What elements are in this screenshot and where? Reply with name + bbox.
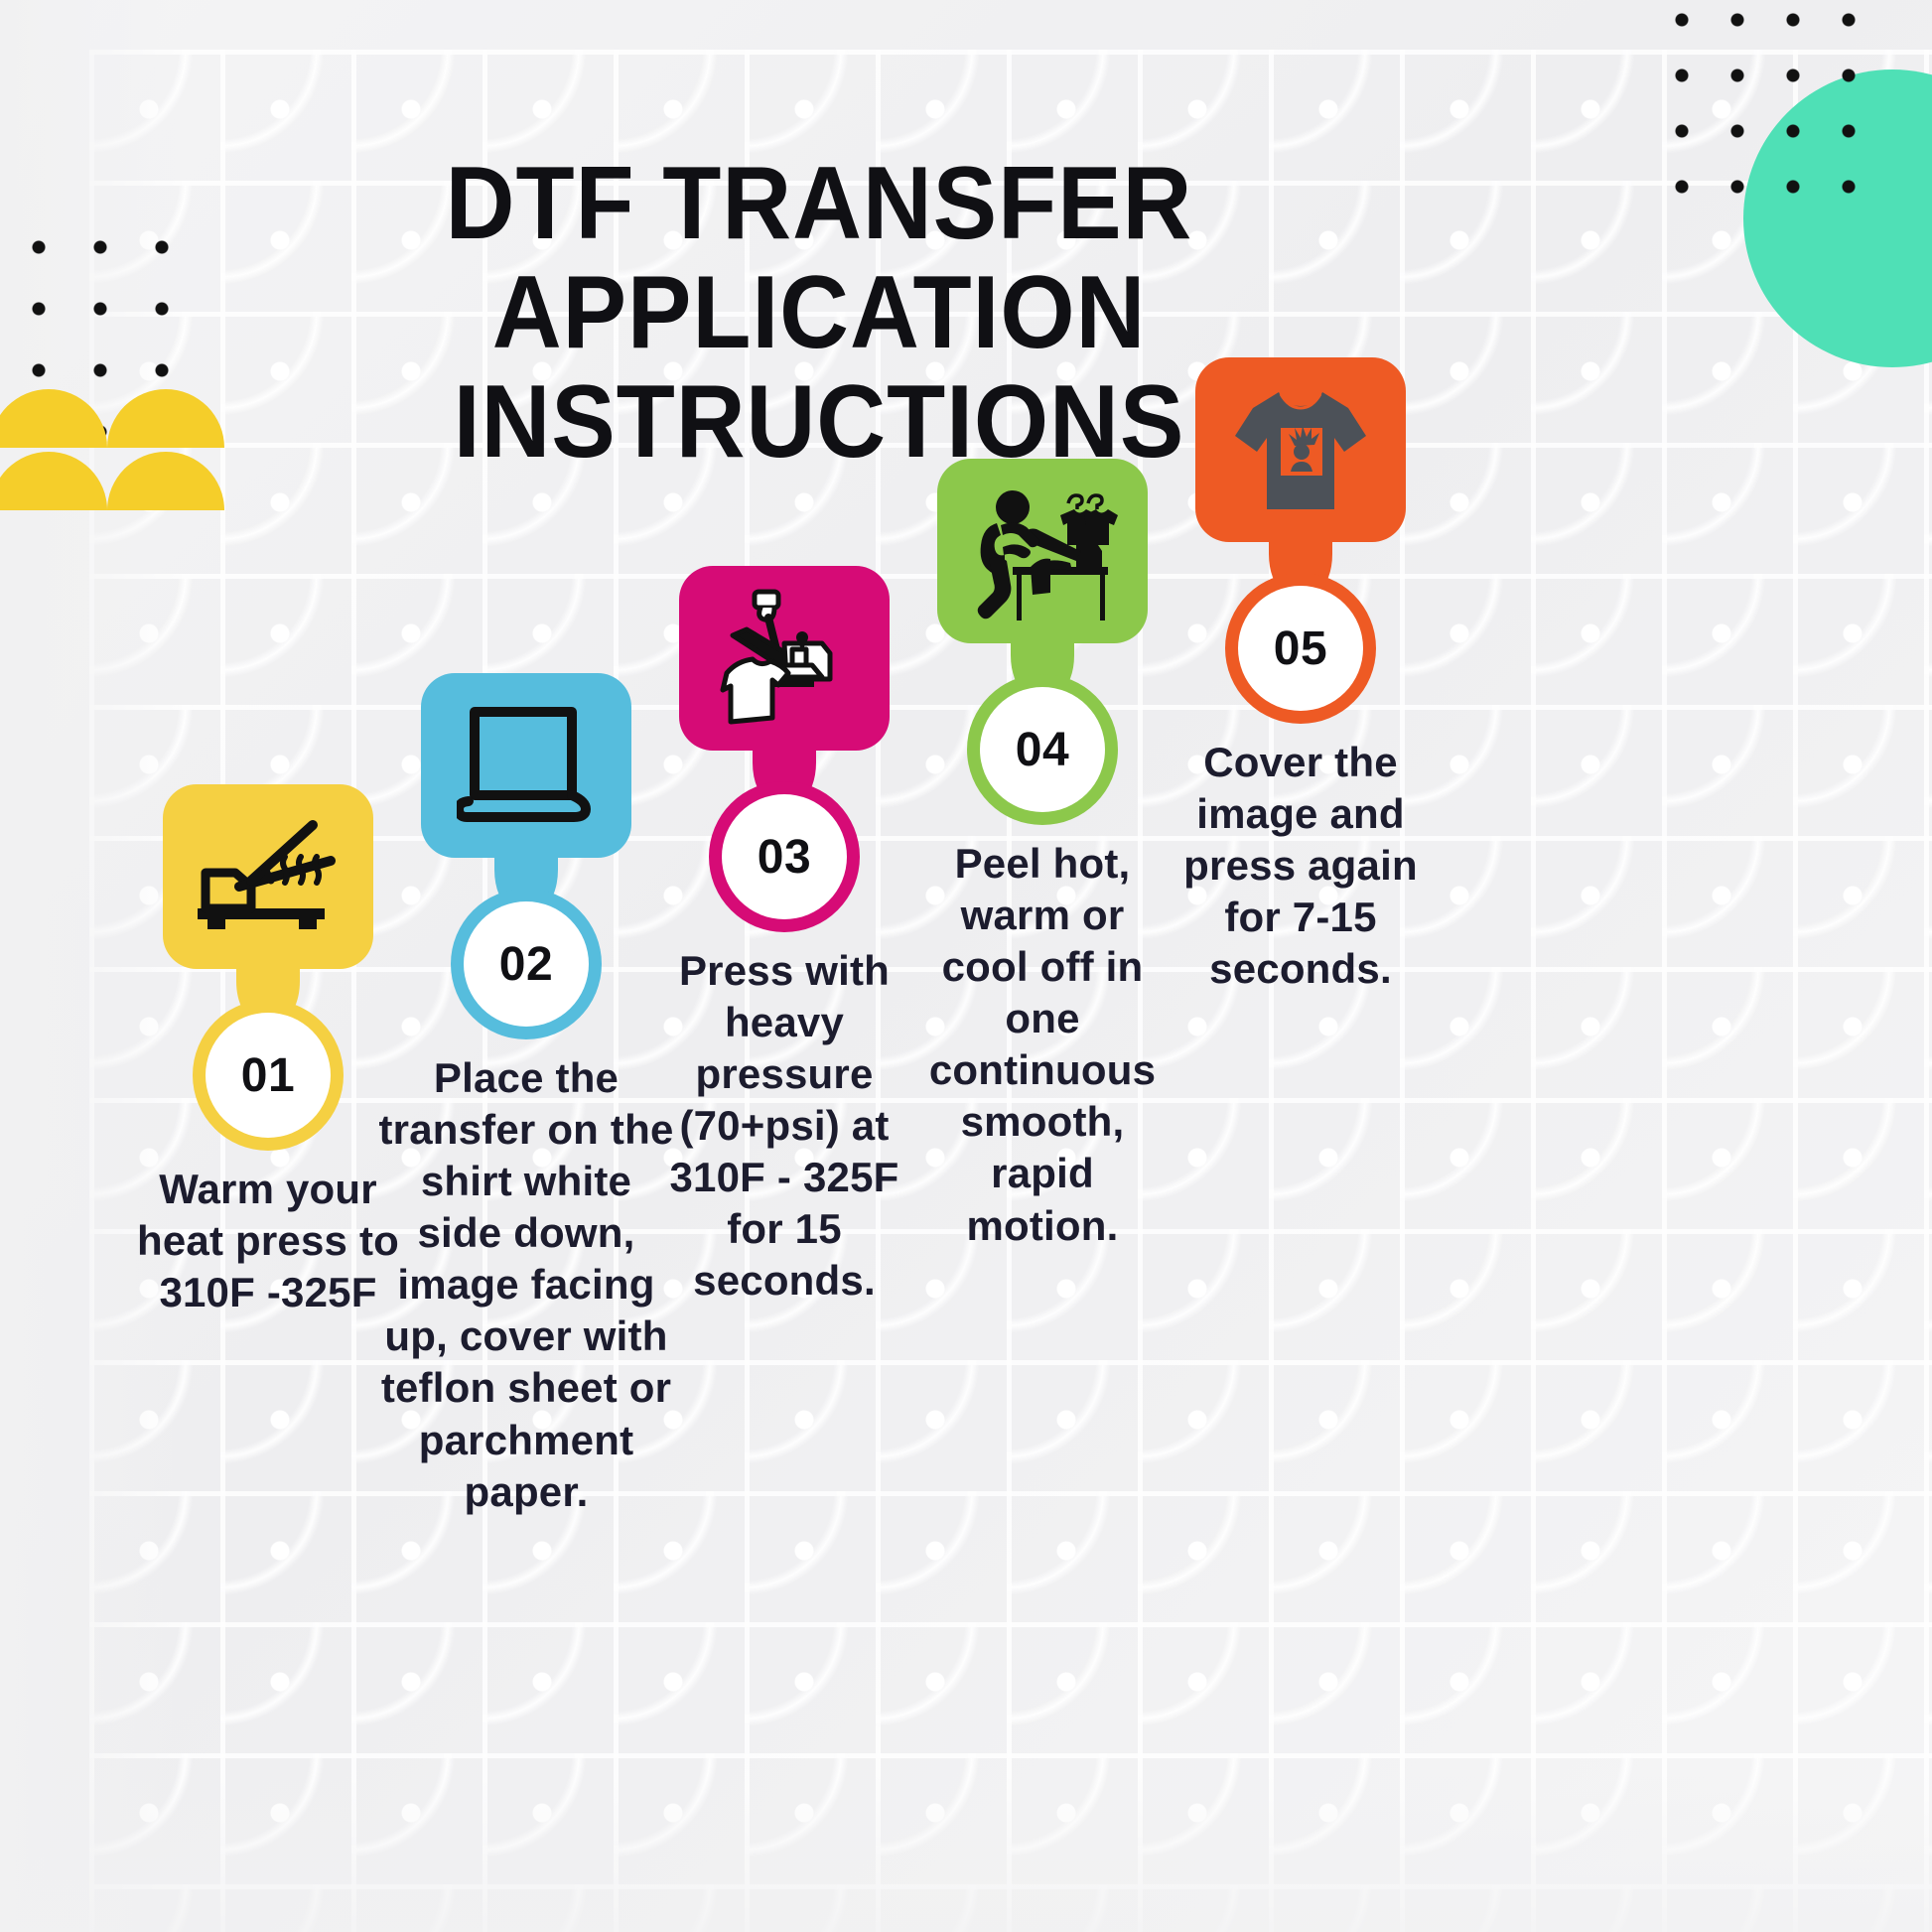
step-card-04 [937,459,1148,643]
heat-press-machine-icon [711,588,858,729]
step-caption-02: Place the transfer on the shirt white si… [377,1052,675,1518]
step-number-01: 01 [241,1048,295,1103]
worker-pressing-shirt-icon [965,482,1120,621]
step-number-02: 02 [499,937,553,992]
step-number-badge-05: 05 [1238,586,1363,711]
steps-container: 01 Warm your heat press to 310F -325F 02… [0,0,1932,1932]
step-number-badge-03: 03 [722,794,847,919]
printed-tshirt-icon [1223,380,1378,519]
step-item-04: 04 Peel hot, warm or cool off in one con… [894,459,1191,1252]
heat-press-open-icon [194,817,343,936]
step-number-badge-02: 02 [464,901,589,1027]
step-card-02 [421,673,631,858]
transfer-sheet-icon [457,704,596,827]
step-item-05: 05 Cover the image and press again for 7… [1152,357,1449,995]
step-caption-01: Warm your heat press to 310F -325F [129,1164,407,1318]
step-item-03: 03 Press with heavy pressure (70+psi) at… [635,566,933,1308]
step-number-05: 05 [1274,621,1327,676]
step-number-badge-01: 01 [206,1013,331,1138]
step-caption-03: Press with heavy pressure (70+psi) at 31… [651,945,917,1308]
step-number-03: 03 [758,830,811,885]
step-number-04: 04 [1016,723,1069,777]
step-card-01 [163,784,373,969]
step-number-badge-04: 04 [980,687,1105,812]
step-item-02: 02 Place the transfer on the shirt white… [377,673,675,1518]
step-card-05 [1195,357,1406,542]
step-caption-04: Peel hot, warm or cool off in one contin… [918,838,1167,1252]
step-card-03 [679,566,890,751]
step-caption-05: Cover the image and press again for 7-15… [1176,737,1425,995]
step-item-01: 01 Warm your heat press to 310F -325F [119,784,417,1318]
